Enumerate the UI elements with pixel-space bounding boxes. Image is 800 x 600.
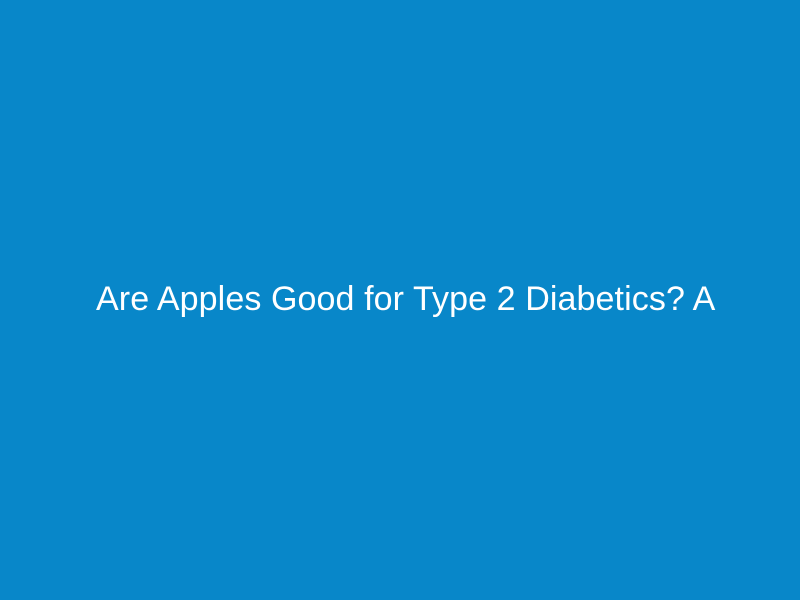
social-share-card: Are Apples Good for Type 2 Diabetics? A bbox=[0, 0, 800, 600]
card-content: Are Apples Good for Type 2 Diabetics? A bbox=[0, 277, 800, 321]
card-title: Are Apples Good for Type 2 Diabetics? A bbox=[0, 277, 800, 321]
